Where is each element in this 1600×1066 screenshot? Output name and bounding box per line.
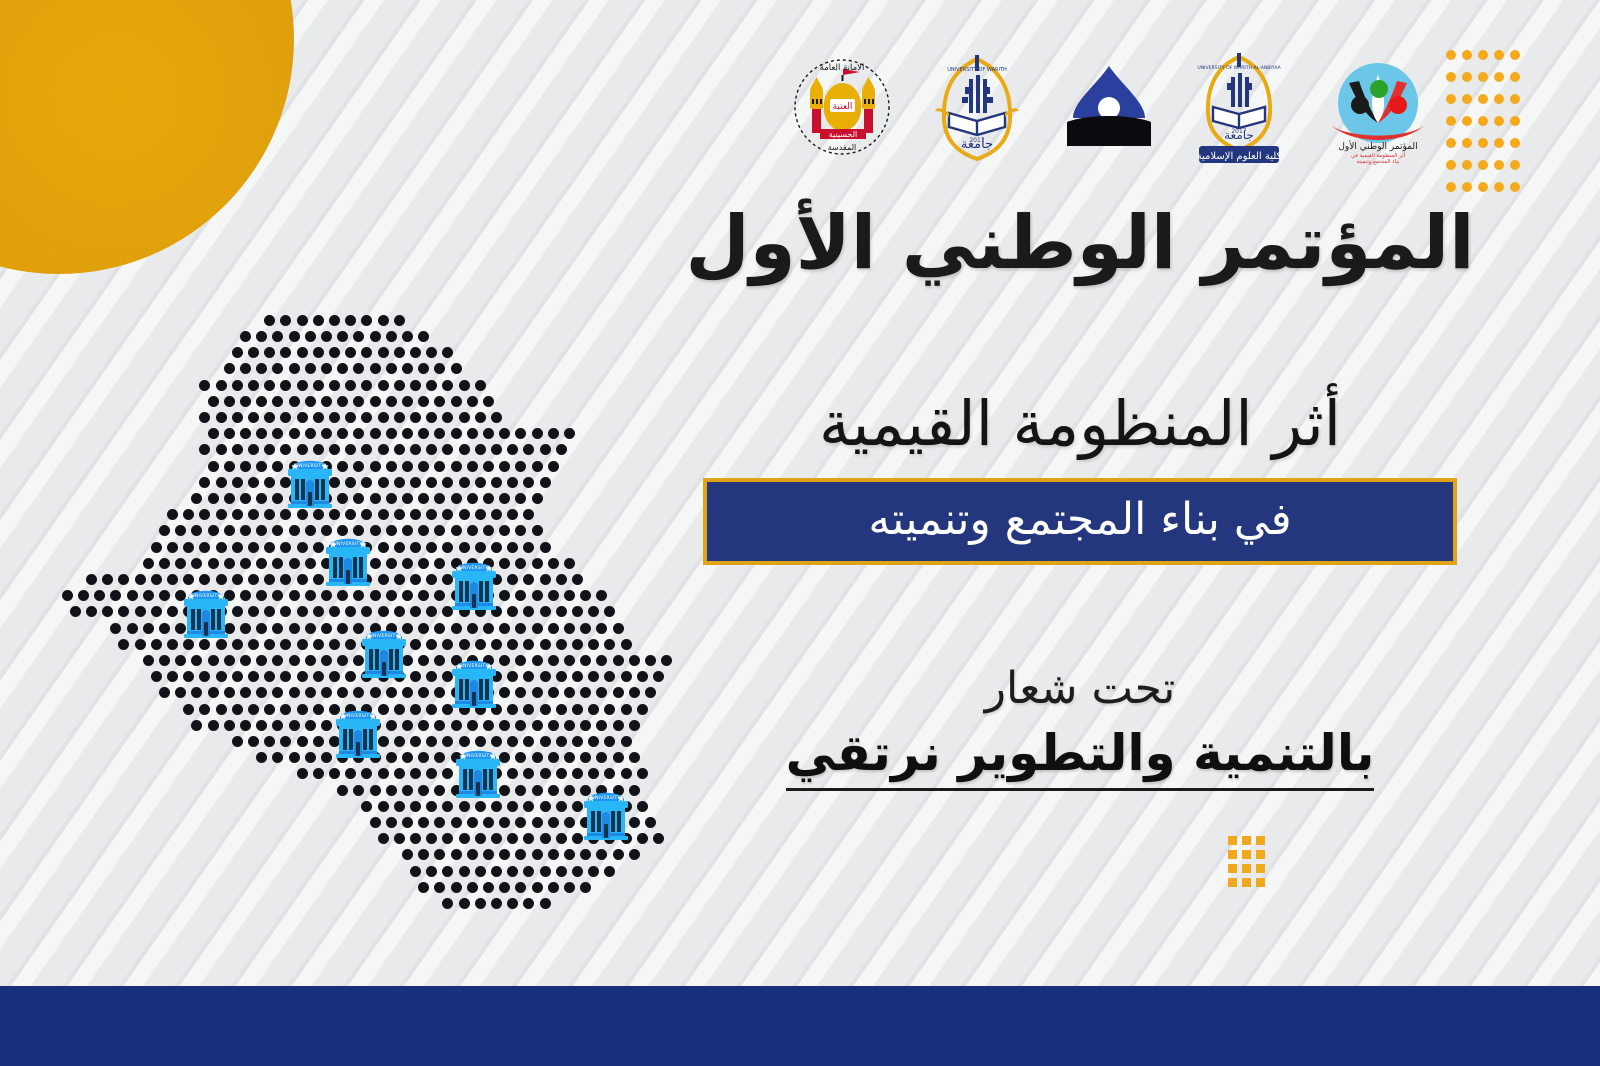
conference-poster: العتبة الحسينية المقدسة الامانة العامة [0,0,1600,1066]
svg-text:UNIVERSITY: UNIVERSITY [459,565,488,571]
theme-highlight-box: في بناء المجتمع وتنميته [703,478,1457,565]
svg-text:2017: 2017 [1231,128,1246,135]
gold-dot-grid-decoration [1446,50,1526,204]
sponsor-logo-row: العتبة الحسينية المقدسة الامانة العامة [790,46,1470,171]
svg-text:العتبة: العتبة [833,102,853,112]
university-marker-9[interactable]: UNIVERSITY [575,782,637,848]
svg-text:UNIVERSITY: UNIVERSITY [463,753,492,759]
university-marker-6[interactable]: UNIVERSITY [443,650,505,716]
svg-text:UNIVERSITY OF WARITH: UNIVERSITY OF WARITH [947,67,1007,73]
warith-al-anbiyaa-university-logo: جامعة 2017 UNIVERSITY OF WARITH [921,53,1033,165]
university-marker-1[interactable]: UNIVERSITY [279,450,341,516]
svg-text:أثر المنظومة القيمية في: أثر المنظومة القيمية في [1351,151,1406,159]
slogan-main-text: بالتنمية والتطوير نرتقي [786,722,1375,792]
svg-text:UNIVERSITY: UNIVERSITY [295,463,324,469]
university-marker-5[interactable]: UNIVERSITY [353,620,415,686]
first-national-conference-emblem: المؤتمر الوطني الأول أثر المنظومة القيمي… [1319,53,1437,165]
conference-title: المؤتمر الوطني الأول [680,200,1480,287]
theme-highlight-text: في بناء المجتمع وتنميته [727,492,1433,547]
svg-text:2017: 2017 [969,137,984,144]
svg-text:بناء المجتمع وتنميته: بناء المجتمع وتنميته [1356,159,1400,165]
iraq-dotted-map: UNIVERSITYUNIVERSITYUNIVERSITYUNIVERSITY… [45,292,705,932]
al-abbas-holy-shrine-logo: العتبة الحسينية المقدسة الامانة العامة [790,55,895,163]
university-marker-7[interactable]: UNIVERSITY [327,700,389,766]
gold-square-dot-accent [1228,836,1270,892]
footer-bar [0,986,1600,1066]
university-marker-3[interactable]: UNIVERSITY [443,552,505,618]
slogan-intro-label: تحت شعار [680,663,1480,716]
svg-text:UNIVERSITY: UNIVERSITY [591,795,620,801]
college-of-islamic-sciences-logo: جامعة 2017 كلية العلوم الإسلامية UNIVERS… [1185,51,1293,166]
svg-text:UNIVERSITY: UNIVERSITY [333,541,362,547]
svg-text:UNIVERSITY: UNIVERSITY [191,593,220,599]
svg-text:UNIVERSITY: UNIVERSITY [459,663,488,669]
university-marker-2[interactable]: UNIVERSITY [317,528,379,594]
svg-text:الامانة العامة: الامانة العامة [820,63,865,73]
svg-text:UNIVERSITY: UNIVERSITY [343,713,372,719]
gold-corner-circle-decoration [0,0,294,274]
blue-dome-book-logo [1059,60,1159,158]
svg-text:UNIVERSITY: UNIVERSITY [369,633,398,639]
svg-text:المؤتمر الوطني الأول: المؤتمر الوطني الأول [1338,140,1417,152]
university-marker-4[interactable]: UNIVERSITY [175,580,237,646]
conference-theme-line: أثر المنظومة القيمية [680,387,1480,461]
svg-text:المقدسة: المقدسة [828,143,857,152]
poster-text-column: المؤتمر الوطني الأول أثر المنظومة القيمي… [680,200,1480,791]
svg-text:كلية العلوم الإسلامية: كلية العلوم الإسلامية [1197,151,1282,162]
university-marker-8[interactable]: UNIVERSITY [447,740,509,806]
svg-text:UNIVERSITY OF WARITH AL-ANBIYA: UNIVERSITY OF WARITH AL-ANBIYAA [1197,65,1281,71]
svg-text:الحسينية: الحسينية [829,130,858,139]
